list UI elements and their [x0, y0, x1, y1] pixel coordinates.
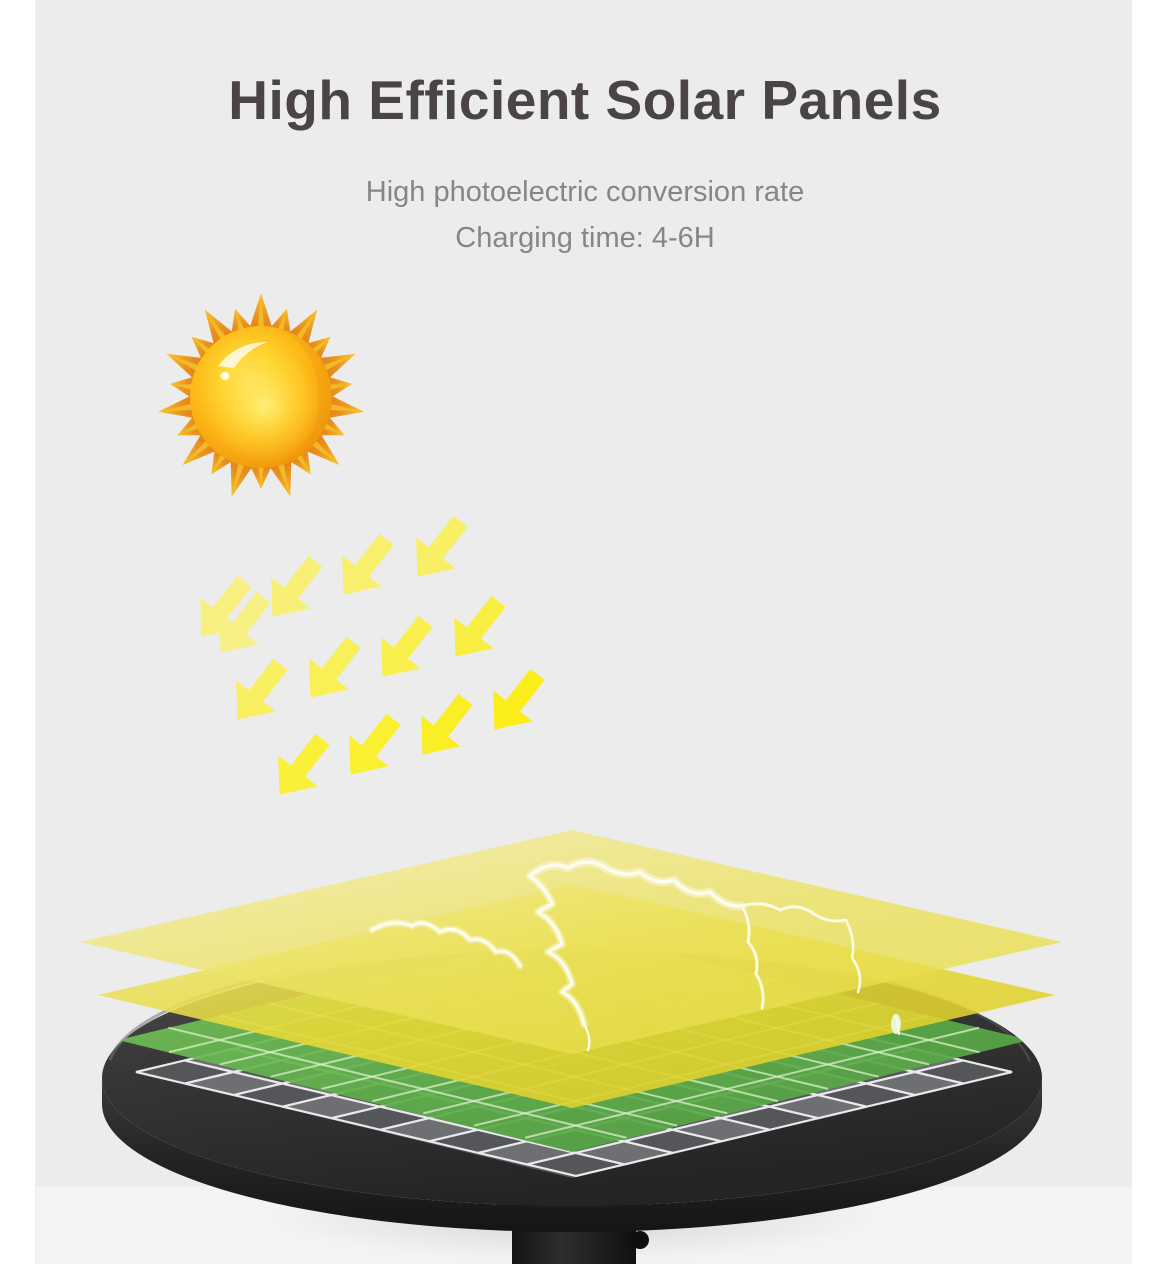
solar-panel-illustration [0, 0, 1170, 1264]
solar-panel-feature-graphic: High Efficient Solar Panels High photoel… [0, 0, 1170, 1264]
